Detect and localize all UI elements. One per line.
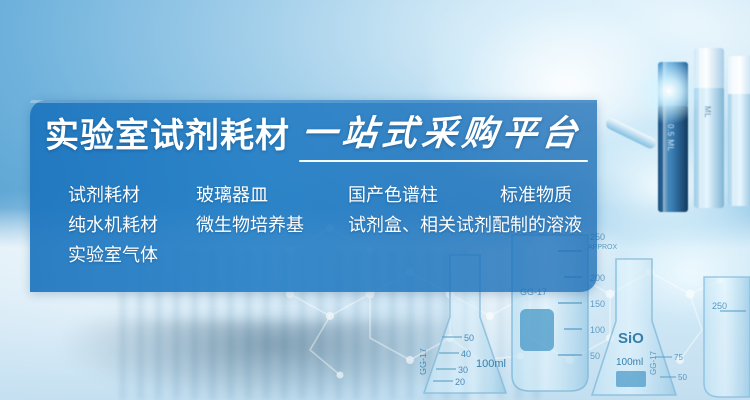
svg-text:GG-17: GG-17 [649, 350, 658, 375]
svg-text:30: 30 [458, 365, 468, 375]
svg-text:150: 150 [590, 299, 605, 309]
category-item[interactable]: 国产色谱柱 [348, 186, 500, 204]
category-item[interactable]: 标准物质 [500, 186, 572, 204]
page-title: 实验室试剂耗材 [45, 119, 290, 153]
svg-text:100ml: 100ml [476, 358, 506, 370]
category-item[interactable]: 试剂盒、相关试剂配制的溶液 [348, 216, 582, 234]
svg-text:40: 40 [461, 349, 471, 359]
title-underline [299, 160, 588, 162]
svg-text:50: 50 [464, 333, 474, 343]
title-script-wrap: 一站式采购平台 [302, 116, 582, 153]
category-row: 实验室气体 [38, 240, 590, 270]
svg-text:20: 20 [455, 377, 465, 387]
category-item[interactable]: 实验室气体 [38, 246, 196, 264]
category-grid: 试剂耗材 玻璃器皿 国产色谱柱 标准物质 纯水机耗材 微生物培养基 试剂盒、相关… [38, 180, 590, 270]
page-subtitle-calligraphy: 一站式采购平台 [300, 116, 584, 151]
svg-text:75: 75 [674, 353, 683, 362]
svg-text:250: 250 [712, 301, 727, 311]
category-item[interactable]: 纯水机耗材 [38, 216, 196, 234]
category-item[interactable]: 微生物培养基 [196, 216, 348, 234]
content-panel: 实验室试剂耗材 一站式采购平台 试剂耗材 玻璃器皿 国产色谱柱 标准物质 纯水机… [30, 100, 597, 292]
svg-text:50: 50 [678, 373, 687, 382]
specular-flash [636, 58, 702, 124]
vial-gloss [732, 56, 738, 206]
cryovial-clear-b [728, 56, 750, 206]
vial-label-text: 0.5 ML [666, 124, 675, 151]
title-row: 实验室试剂耗材 一站式采购平台 [45, 116, 582, 153]
svg-text:GG-17: GG-17 [420, 348, 428, 375]
category-item[interactable]: 试剂耗材 [38, 186, 196, 204]
svg-text:SiO: SiO [618, 330, 644, 347]
promo-banner: 0.5 ML ML [0, 0, 750, 400]
vial-label-text: ML [703, 106, 712, 118]
category-row: 试剂耗材 玻璃器皿 国产色谱柱 标准物质 [38, 180, 590, 210]
svg-text:100ml: 100ml [616, 357, 643, 368]
category-row: 纯水机耗材 微生物培养基 试剂盒、相关试剂配制的溶液 [38, 210, 590, 240]
svg-text:50: 50 [590, 351, 600, 361]
category-item[interactable]: 玻璃器皿 [196, 186, 348, 204]
svg-text:100: 100 [590, 325, 605, 335]
